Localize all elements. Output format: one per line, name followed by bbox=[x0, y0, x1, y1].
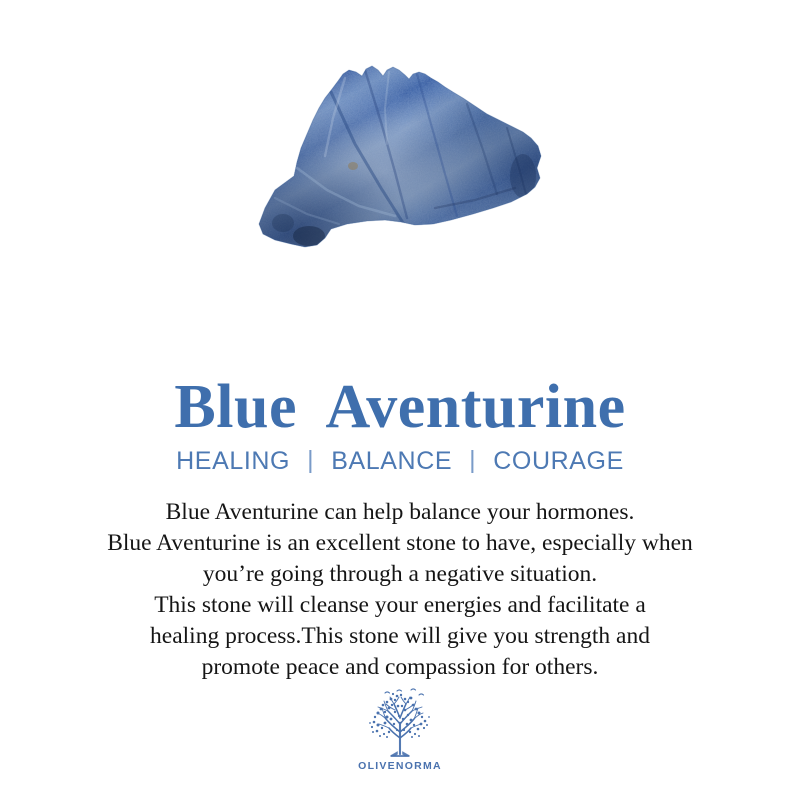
description-line: healing process.This stone will give you… bbox=[20, 621, 780, 652]
keyword-list: HEALING | BALANCE | COURAGE bbox=[0, 446, 800, 476]
olive-tree-icon bbox=[361, 688, 439, 760]
product-info-card: Blue Aventurine HEALING | BALANCE | COUR… bbox=[0, 0, 800, 800]
blue-aventurine-stone-image bbox=[235, 48, 565, 263]
stone-body bbox=[235, 48, 565, 263]
page-title: Blue Aventurine bbox=[0, 375, 800, 440]
keyword-balance: BALANCE bbox=[331, 446, 452, 476]
keyword-separator-1: | bbox=[290, 445, 331, 475]
keyword-separator-2: | bbox=[452, 445, 493, 475]
description-line: Blue Aventurine is an excellent stone to… bbox=[20, 528, 780, 559]
brand-logo: OLIVENORMA bbox=[0, 688, 800, 772]
description-line: Blue Aventurine can help balance your ho… bbox=[20, 497, 780, 528]
description-line: promote peace and compassion for others. bbox=[20, 652, 780, 683]
keyword-courage: COURAGE bbox=[493, 446, 624, 476]
keyword-healing: HEALING bbox=[176, 446, 290, 476]
description-line: you’re going through a negative situatio… bbox=[20, 559, 780, 590]
stone-image-container bbox=[0, 48, 800, 273]
brand-wordmark: OLIVENORMA bbox=[358, 761, 442, 772]
description-line: This stone will cleanse your energies an… bbox=[20, 590, 780, 621]
description-text: Blue Aventurine can help balance your ho… bbox=[20, 497, 780, 683]
